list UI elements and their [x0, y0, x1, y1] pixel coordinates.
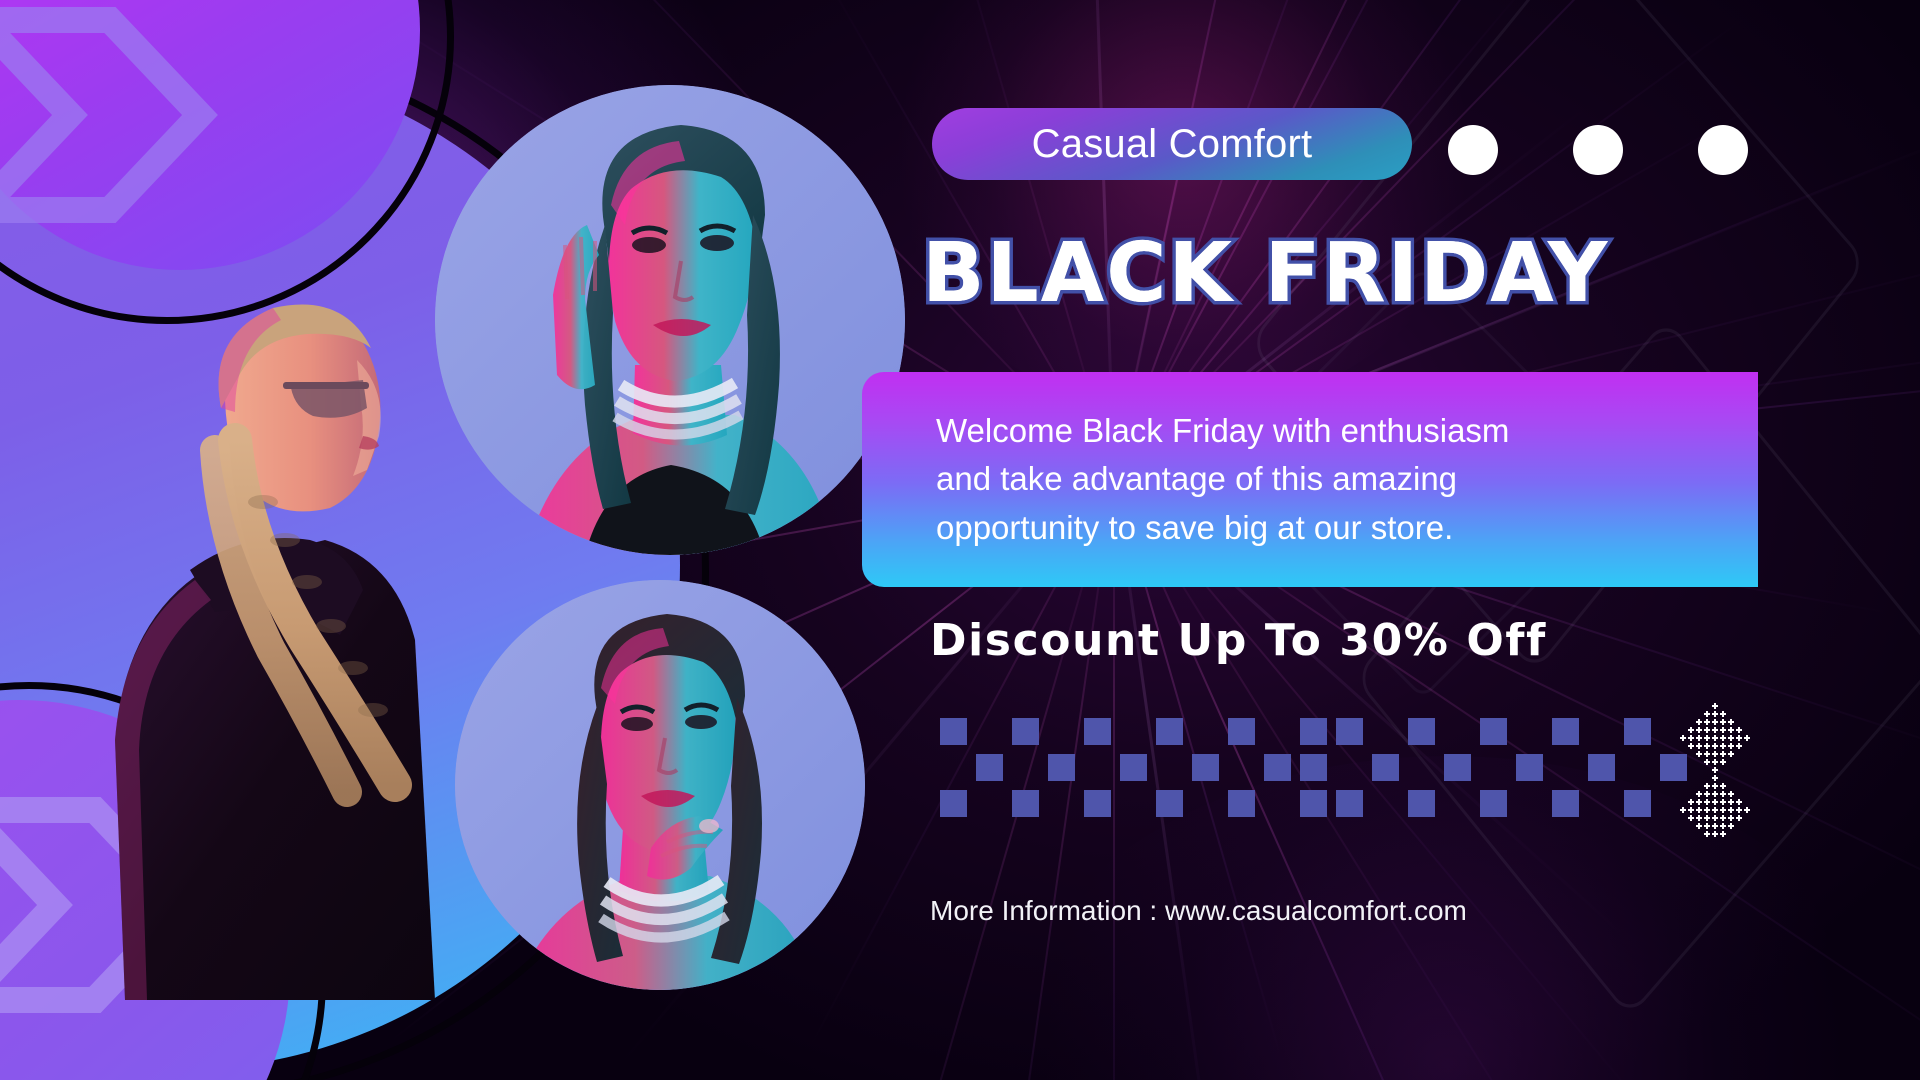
brand-pill[interactable]: Casual Comfort — [932, 108, 1412, 180]
checker-pattern-left — [940, 718, 1327, 817]
discount-heading: Discount Up To 30% Off — [930, 615, 1830, 666]
decor-dot-group — [1448, 125, 1748, 175]
checker-pattern-right — [1300, 718, 1687, 817]
description-panel: Welcome Black Friday with enthusiasm and… — [862, 372, 1758, 587]
diamond-ornament-icon — [1672, 700, 1758, 838]
description-line-3: opportunity to save big at our store. — [936, 509, 1453, 546]
decor-dot-3 — [1698, 125, 1748, 175]
headline-title: BLACK FRIDAY — [922, 226, 1802, 312]
banner-canvas: Casual Comfort BLACK FRIDAY BLACK FRIDAY… — [0, 0, 1920, 1080]
chevron-icon-top — [0, 0, 220, 230]
description-line-2: and take advantage of this amazing — [936, 460, 1457, 497]
model-photo-bottom — [455, 580, 865, 990]
description-line-1: Welcome Black Friday with enthusiasm — [936, 412, 1509, 449]
model-photo-top — [435, 85, 905, 555]
decor-dot-1 — [1448, 125, 1498, 175]
description-text: Welcome Black Friday with enthusiasm and… — [936, 407, 1509, 552]
footer-info: More Information : www.casualcomfort.com — [930, 895, 1830, 927]
decor-dot-2 — [1573, 125, 1623, 175]
brand-pill-label: Casual Comfort — [1032, 122, 1313, 167]
